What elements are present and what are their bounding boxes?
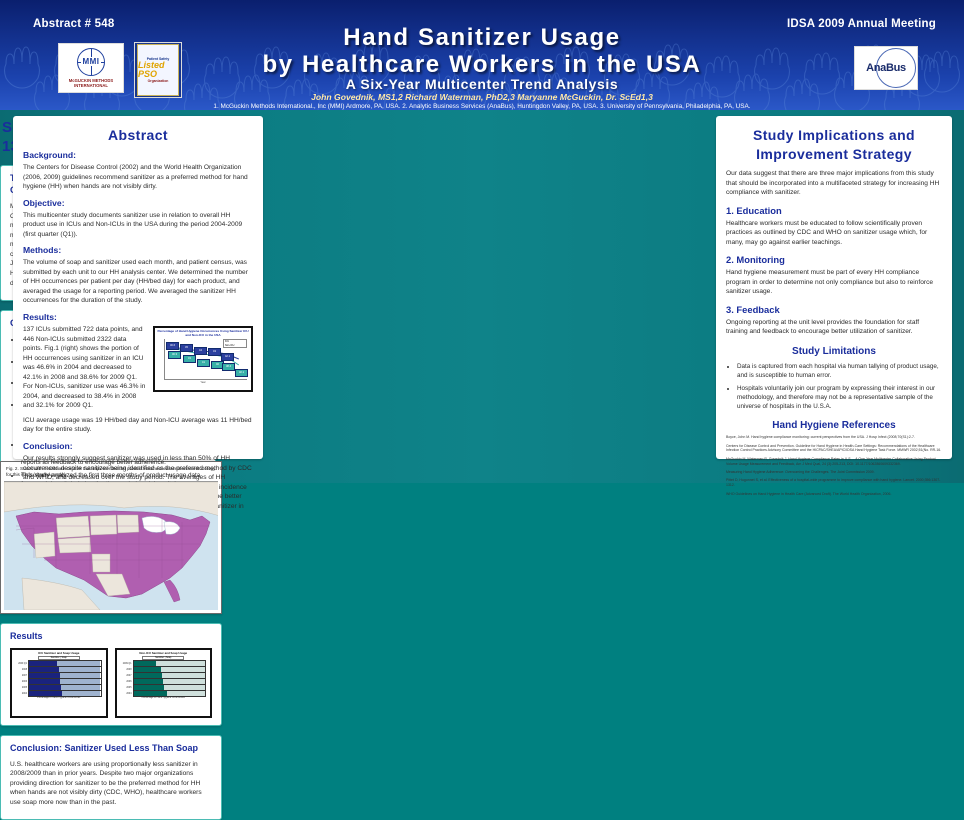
implication-text-monitoring: Hand hygiene measurement must be part of… — [726, 268, 942, 297]
background-text: The Centers for Disease Control (2002) a… — [23, 163, 253, 192]
limitations-list: Data is captured from each hospital via … — [726, 362, 942, 411]
table-row: 2004 — [16, 691, 102, 696]
results-charts: ICU Sanitizer and Soap Usage Sanitizer |… — [10, 648, 212, 718]
methods-text: The volume of soap and sanitizer used ea… — [23, 258, 253, 306]
bar-label: 2008 — [16, 669, 28, 671]
bar-label: 2004 — [16, 693, 28, 695]
icu-chart-xlabel: Percentage of Hand Hygiene Occurrences — [14, 697, 104, 699]
results-text-2: ICU average usage was 19 HH/bed day and … — [23, 416, 253, 435]
usa-map-image — [4, 482, 218, 610]
figure-1-title: Percentage of Hand Hygiene Occurrences U… — [155, 328, 251, 338]
figure-1-plot: ICU Non-ICU 46.6 45 44 43 46.3 43 — [164, 339, 247, 380]
poster-title-line2: by Healthcare Workers in the USA — [0, 51, 964, 79]
implications-heading-line1: Study Implications and — [726, 127, 942, 143]
table-row: 2007 — [121, 673, 207, 678]
table-row: 2008 — [16, 667, 102, 672]
poster-header-banner: Abstract # 548 IDSA 2009 Annual Meeting … — [0, 0, 964, 110]
objective-text: This multicenter study documents sanitiz… — [23, 211, 253, 240]
table-row: 2009 Q1 — [121, 661, 207, 666]
list-item: Data is captured from each hospital via … — [737, 362, 942, 380]
references-list: Boyce, John M. Hand hygiene compliance m… — [726, 435, 942, 497]
reference-item: McGuckin M, Waterman R, Govednik J. Hand… — [726, 457, 942, 467]
implication-title-monitoring: 2. Monitoring — [726, 254, 942, 265]
bar-label: 2008 — [121, 669, 133, 671]
icu-usage-chart: ICU Sanitizer and Soap Usage Sanitizer |… — [10, 648, 108, 718]
poster-title-line1: Hand Sanitizer Usage — [0, 24, 964, 52]
poster-canvas: Abstract # 548 IDSA 2009 Annual Meeting … — [0, 0, 964, 483]
table-row: 2004 — [121, 691, 207, 696]
legend-item-nonicu: Non-ICU — [224, 344, 246, 348]
bar-label: 2009 Q1 — [16, 663, 28, 665]
objective-label: Objective: — [23, 198, 253, 208]
table-row: 2005 — [16, 685, 102, 690]
nonicu-usage-chart: Non-ICU Sanitizer and Soap Usage Sanitiz… — [115, 648, 213, 718]
legend-soap: Soap — [166, 657, 171, 659]
figure-1-chart: Percentage of Hand Hygiene Occurrences U… — [153, 326, 253, 392]
figure-1-legend: ICU Non-ICU — [223, 339, 247, 349]
table-row: 2008 — [121, 667, 207, 672]
implications-heading-line2: Improvement Strategy — [726, 146, 942, 162]
results-conclusion-box: Conclusion: Sanitizer Used Less Than Soa… — [0, 735, 222, 820]
table-row: 2007 — [16, 673, 102, 678]
results-label: Results: — [23, 312, 253, 322]
implication-text-feedback: Ongoing reporting at the unit level prov… — [726, 318, 942, 337]
author-list: John Govednik, MS1,2 Richard Waterman, P… — [0, 92, 964, 102]
anabus-logo-text: AnaBus — [866, 62, 906, 74]
table-row: 2005 — [121, 685, 207, 690]
methods-label: Methods: — [23, 245, 253, 255]
limitations-title: Study Limitations — [726, 346, 942, 357]
implication-title-education: 1. Education — [726, 205, 942, 216]
table-row: 2009 Q1 — [16, 661, 102, 666]
bar-label: 2009 Q1 — [121, 663, 133, 665]
bar-label: 2005 — [16, 687, 28, 689]
nonicu-chart-xlabel: Percentage of Hand Hygiene Occurrences — [119, 697, 209, 699]
conclusion-label: Conclusion: — [23, 441, 253, 451]
bar-label: 2005 — [121, 687, 133, 689]
reference-item: Boyce, John M. Hand hygiene compliance m… — [726, 435, 942, 440]
mmi-initials: MMI — [81, 57, 100, 66]
results-conclusion-text: U.S. healthcare workers are using propor… — [10, 760, 212, 808]
legend-soap: Soap — [61, 657, 66, 659]
results-heading: Results — [10, 631, 212, 643]
poster-subtitle: A Six-Year Multicenter Trend Analysis — [0, 76, 964, 92]
results-conclusion-title: Conclusion: Sanitizer Used Less Than Soa… — [10, 743, 212, 755]
bar-label: 2007 — [121, 675, 133, 677]
reference-item: WHO Guidelines on Hand Hygiene in Health… — [726, 492, 942, 497]
bar-label: 2006 — [121, 681, 133, 683]
abstract-heading: Abstract — [23, 127, 253, 143]
reference-item: Centers for Disease Control and Preventi… — [726, 444, 942, 454]
implication-title-feedback: 3. Feedback — [726, 304, 942, 315]
bar-label: 2006 — [16, 681, 28, 683]
abstract-panel: Abstract Background: The Centers for Dis… — [13, 116, 263, 459]
reference-item: Measuring Hand Hygiene Adherence: Overco… — [726, 470, 942, 475]
reference-item: Pittet D, Hugonnet S, et al. Effectivene… — [726, 478, 942, 488]
bar-label: 2007 — [16, 675, 28, 677]
implications-intro: Our data suggest that there are three ma… — [726, 169, 942, 198]
table-row: 2006 — [16, 679, 102, 684]
implication-text-education: Healthcare workers must be educated to f… — [726, 219, 942, 248]
bar-label: 2004 — [121, 693, 133, 695]
affiliation-list: 1. McGuckin Methods International., Inc … — [0, 103, 964, 110]
legend-sanitizer: Sanitizer — [155, 657, 164, 659]
references-title: Hand Hygiene References — [726, 420, 942, 431]
map-results-column: Fig. 2. States with healthcare centers t… — [0, 461, 222, 804]
table-row: 2006 — [121, 679, 207, 684]
figure-1-xlabel: Year — [155, 381, 251, 384]
results-box: Results ICU Sanitizer and Soap Usage San… — [0, 623, 222, 726]
usa-map-svg — [4, 482, 218, 610]
implications-panel: Study Implications and Improvement Strat… — [716, 116, 952, 459]
poster-body: Abstract Background: The Centers for Dis… — [0, 116, 964, 478]
figure-2-map: Fig. 2. States with healthcare centers t… — [0, 461, 222, 614]
list-item: Hospitals voluntarily join our program b… — [737, 384, 942, 411]
legend-sanitizer: Sanitizer — [51, 657, 60, 659]
nonicu-chart-title: Non-ICU Sanitizer and Soap Usage — [119, 652, 209, 655]
background-label: Background: — [23, 150, 253, 160]
icu-chart-title: ICU Sanitizer and Soap Usage — [14, 652, 104, 655]
